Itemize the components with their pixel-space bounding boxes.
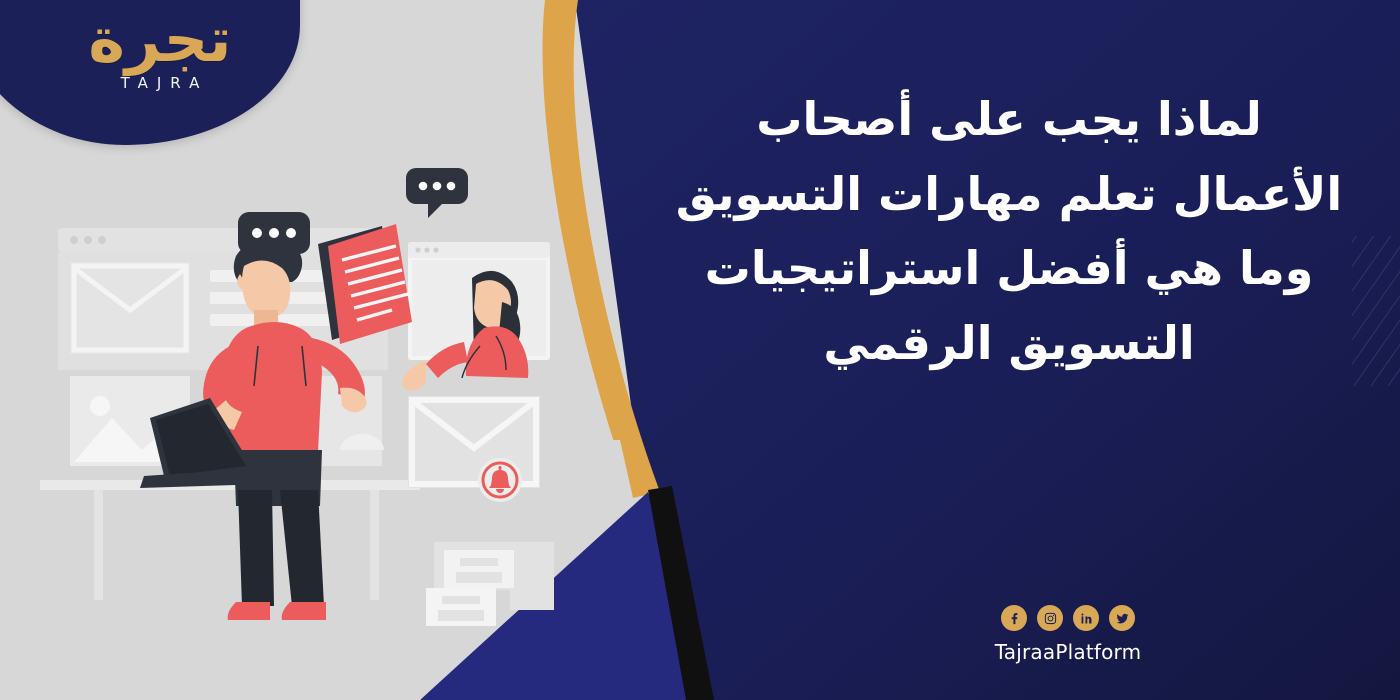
shoe-left xyxy=(228,602,270,620)
facebook-icon xyxy=(1007,611,1022,626)
logo-wordmark: TAJRA xyxy=(45,74,275,92)
instagram-icon xyxy=(1043,611,1058,626)
linkedin-icon xyxy=(1079,611,1094,626)
social-link-twitter[interactable] xyxy=(1109,605,1135,631)
illustration xyxy=(40,150,600,670)
red-document xyxy=(318,224,412,344)
notification-bell-badge xyxy=(478,458,522,502)
footer: TajraaPlatform xyxy=(948,605,1188,664)
woman-hand xyxy=(402,360,426,390)
shoe-right xyxy=(282,602,326,620)
social-link-instagram[interactable] xyxy=(1037,605,1063,631)
account-handle: TajraaPlatform xyxy=(948,640,1188,664)
page-title: لماذا يجب على أصحاب الأعمال تعلم مهارات … xyxy=(664,82,1354,380)
social-link-linkedin[interactable] xyxy=(1073,605,1099,631)
right-edge-hatch-lines xyxy=(1352,236,1400,386)
social-link-facebook[interactable] xyxy=(1001,605,1027,631)
logo-inner: تجرة TAJRA xyxy=(45,10,275,92)
chat-bubble-right xyxy=(406,168,468,218)
twitter-icon xyxy=(1115,611,1130,626)
woman-browser-window xyxy=(408,242,550,378)
logo-arabic-mark: تجرة xyxy=(45,10,275,70)
social-media-banner: تجرة TAJRA لماذا يجب على أصحاب الأعمال ت… xyxy=(0,0,1400,700)
social-links xyxy=(948,605,1188,631)
